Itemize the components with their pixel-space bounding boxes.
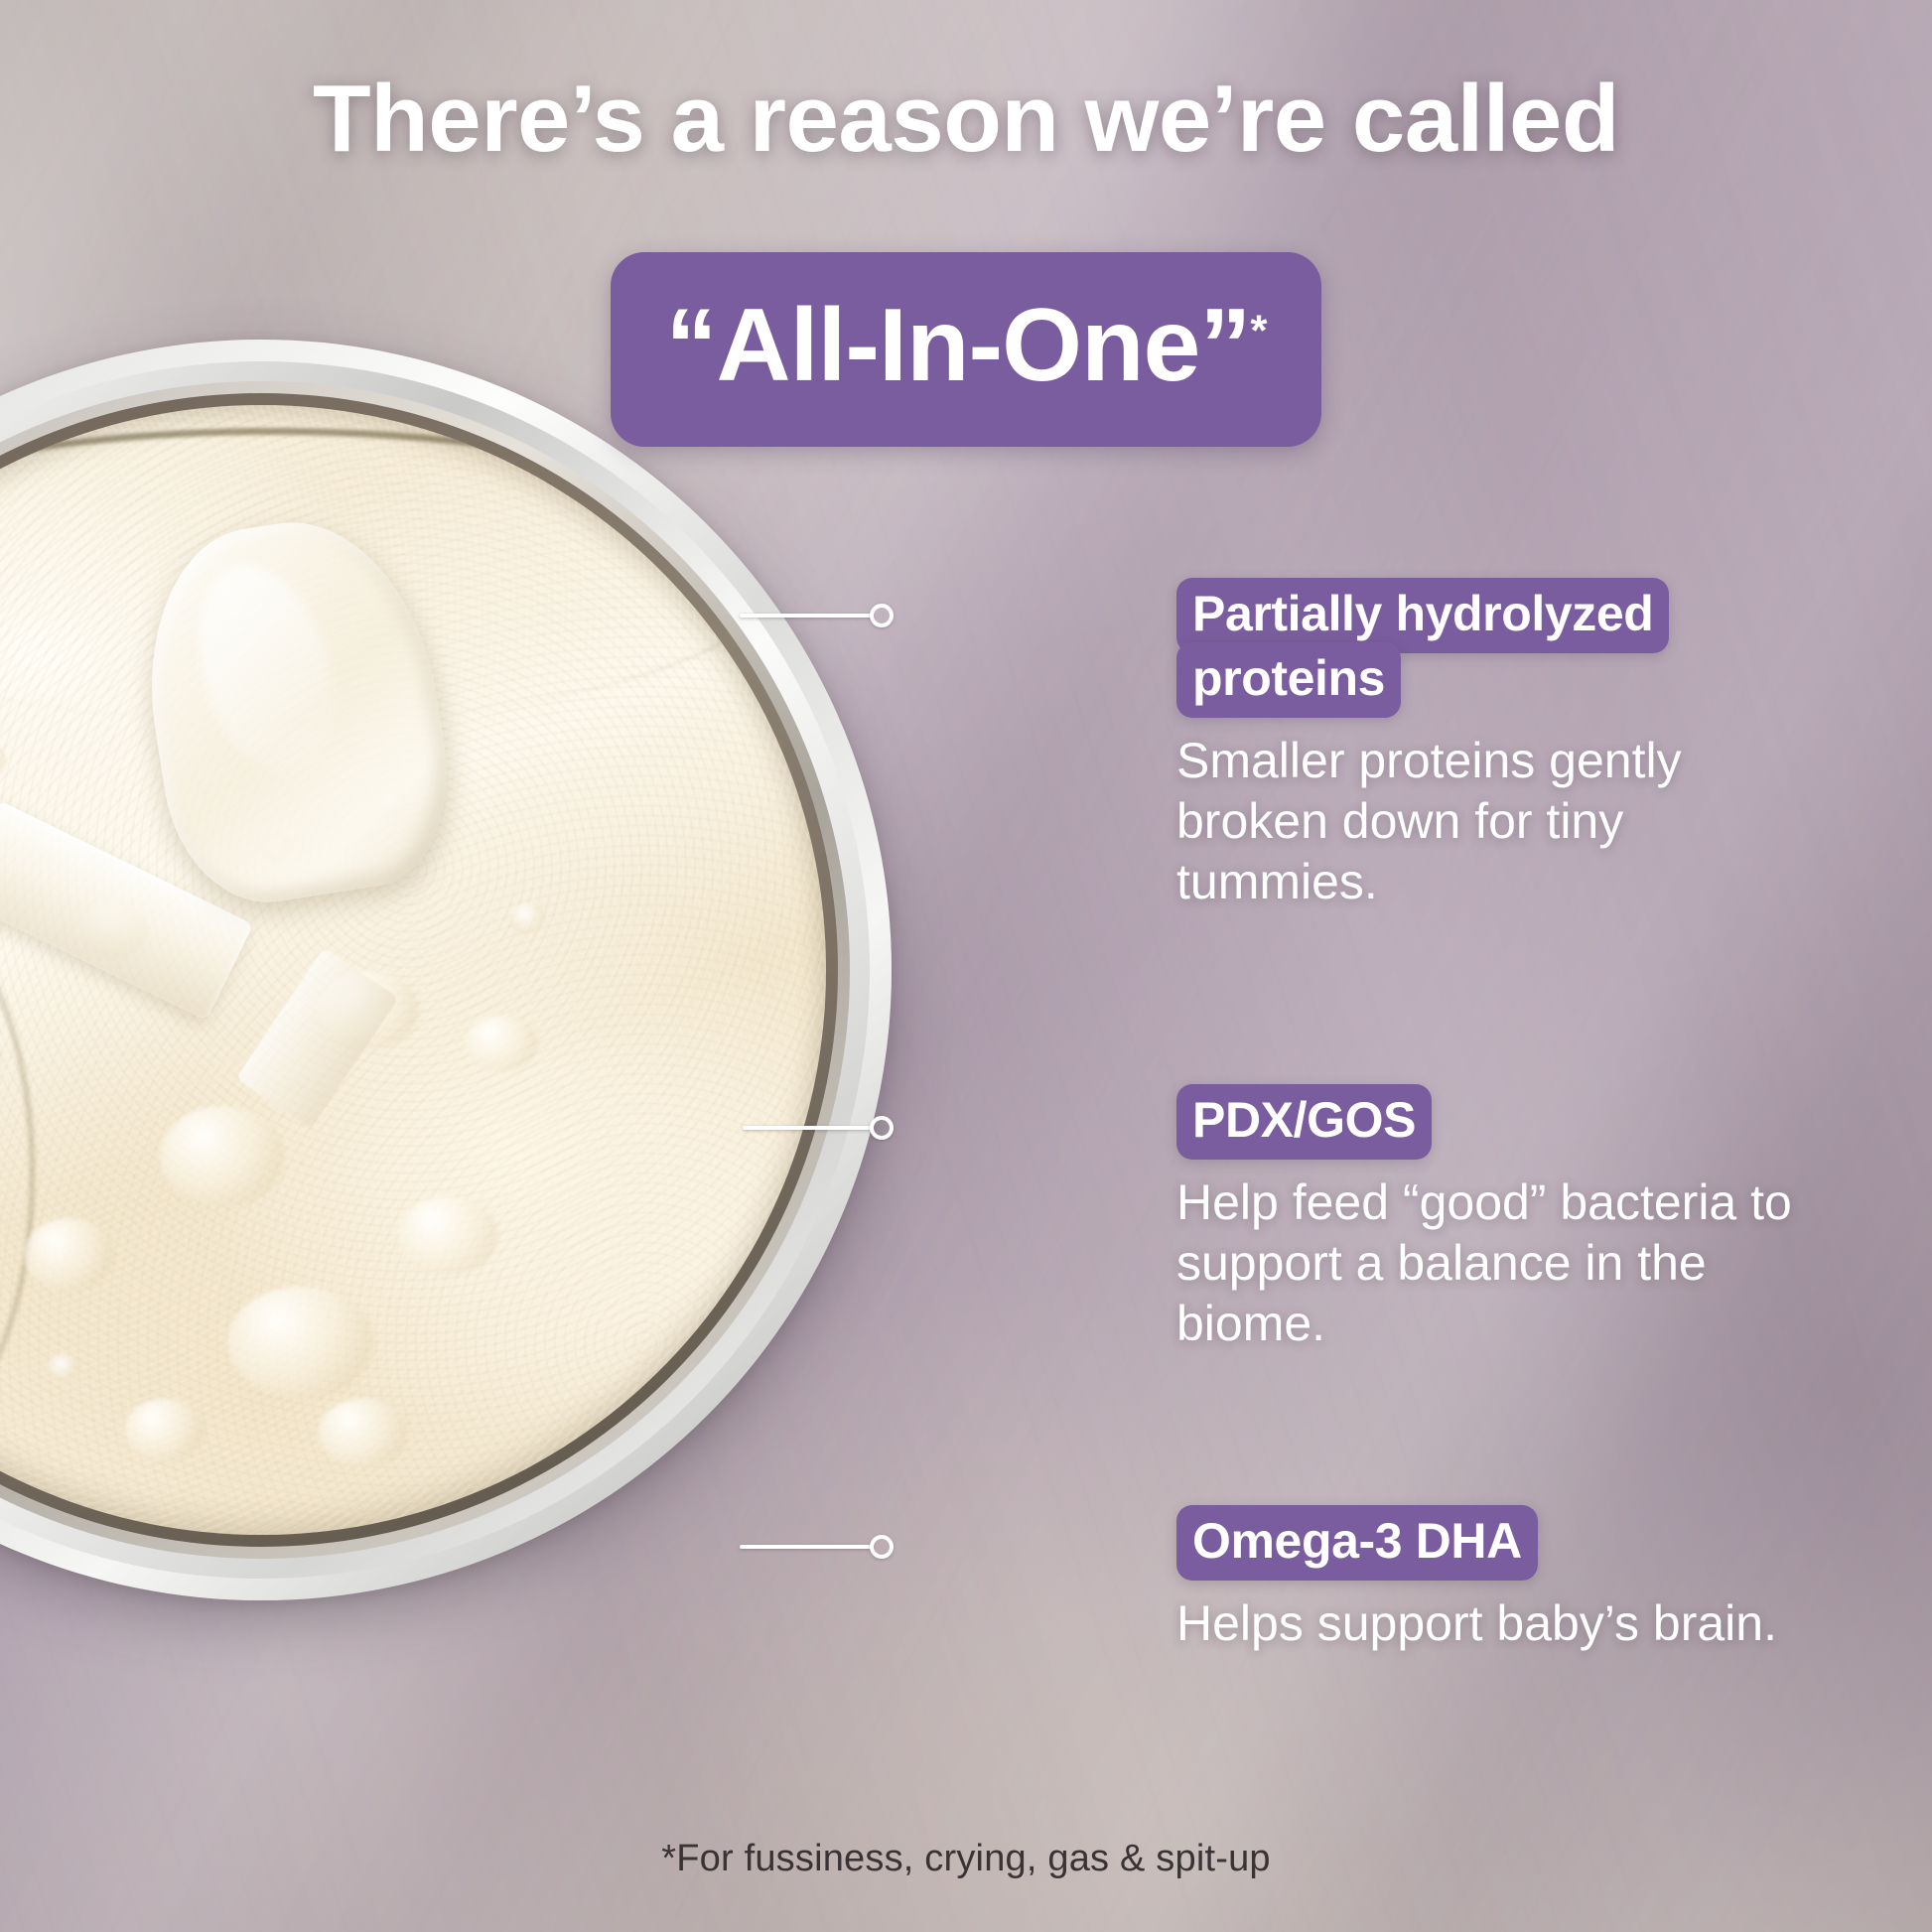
- callout-body: Help feed “good” bacteria to support a b…: [1176, 1173, 1792, 1354]
- callout-omega-3-dha: Omega-3 DHA Helps support baby’s brain.: [1176, 1509, 1812, 1654]
- leader-line-pdxgos: [743, 1126, 874, 1130]
- powder-clump: [318, 1399, 408, 1466]
- callout-heading-text: PDX/GOS: [1176, 1084, 1432, 1160]
- callout-heading: Partially hydrolyzed proteins: [1176, 582, 1802, 711]
- callout-body: Helps support baby’s brain.: [1176, 1593, 1792, 1654]
- footnote-disclaimer: *For fussiness, crying, gas & spit-up: [0, 1838, 1932, 1880]
- leader-line-stroke: [743, 1126, 874, 1130]
- powder-speck: [509, 902, 545, 934]
- leader-endpoint-circle-icon: [870, 1535, 894, 1559]
- powder-clump: [227, 1287, 374, 1400]
- powder-clump: [125, 1399, 205, 1461]
- powder-speck: [47, 1354, 80, 1382]
- callout-heading: PDX/GOS: [1176, 1088, 1802, 1153]
- banner-text: “All-In-One”: [666, 288, 1251, 403]
- leader-line-proteins: [740, 614, 874, 618]
- powder-clump: [465, 1016, 538, 1072]
- callout-heading-text: Partially hydrolyzed proteins: [1176, 578, 1669, 718]
- leader-endpoint-circle-icon: [870, 1116, 894, 1140]
- callout-pdx-gos: PDX/GOS Help feed “good” bacteria to sup…: [1176, 1088, 1812, 1354]
- callout-body: Smaller proteins gently broken down for …: [1176, 731, 1792, 912]
- infographic-canvas: There’s a reason we’re called “All-In-On…: [0, 0, 1932, 1932]
- leader-endpoint-circle-icon: [870, 604, 894, 627]
- callout-partially-hydrolyzed-proteins: Partially hydrolyzed proteins Smaller pr…: [1176, 582, 1812, 912]
- leader-line-stroke: [740, 1545, 874, 1549]
- formula-powder: [0, 405, 826, 1535]
- powder-clump: [397, 1196, 498, 1276]
- powder-clump: [24, 1218, 114, 1292]
- banner-row: “All-In-One”*: [0, 252, 1932, 447]
- formula-can-image: [0, 340, 892, 1600]
- callout-heading-text: Omega-3 DHA: [1176, 1505, 1538, 1581]
- leader-line-omega3: [740, 1545, 874, 1549]
- banner-asterisk: *: [1250, 306, 1266, 354]
- powder-clump: [160, 1106, 284, 1207]
- callout-heading: Omega-3 DHA: [1176, 1509, 1802, 1574]
- page-title: There’s a reason we’re called: [0, 68, 1932, 171]
- all-in-one-banner: “All-In-One”*: [611, 252, 1322, 447]
- leader-line-stroke: [740, 614, 874, 618]
